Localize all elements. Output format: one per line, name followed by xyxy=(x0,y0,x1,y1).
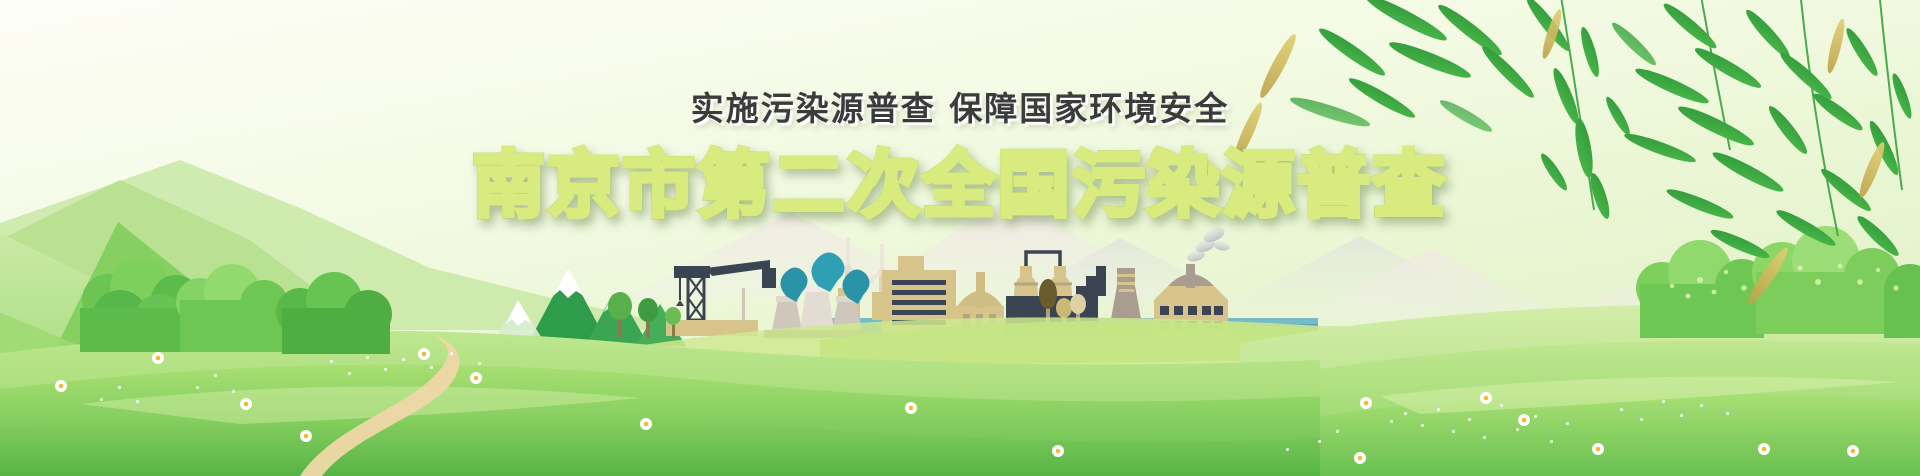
snow-peaks-layer xyxy=(0,0,1920,476)
grass-speck xyxy=(330,360,333,363)
smokestack xyxy=(1108,268,1144,336)
grass-speck xyxy=(100,398,103,401)
cooling-tower-group xyxy=(764,286,868,338)
grass-speck xyxy=(1404,412,1407,415)
daisy-flower-icon xyxy=(418,348,430,360)
tree-group-right xyxy=(1039,279,1086,336)
daisy-flower-icon xyxy=(240,398,252,410)
grass-speck xyxy=(1566,422,1569,425)
haze-mountains xyxy=(620,196,1860,330)
grass-speck xyxy=(1500,404,1503,407)
grass-speck xyxy=(1286,448,1289,451)
grass-speck xyxy=(1468,418,1471,421)
grass-speck xyxy=(1534,415,1537,418)
grass-speck xyxy=(1483,436,1486,439)
grass-speck xyxy=(478,362,481,365)
civic-building xyxy=(1154,264,1228,336)
grass-speck xyxy=(196,386,199,389)
wind-turbine xyxy=(822,238,874,320)
grass-speck xyxy=(1336,430,1339,433)
grass-speck xyxy=(1437,408,1440,411)
office-building xyxy=(882,256,956,336)
grass-speck xyxy=(1452,430,1455,433)
grass-speck xyxy=(366,356,369,359)
headline-block: 实施污染源普查 保障国家环境安全 南京市第二次全国污染源普查 xyxy=(0,0,1920,476)
wind-turbine xyxy=(858,244,906,320)
campaign-banner: 实施污染源普查 保障国家环境安全 南京市第二次全国污染源普查 xyxy=(0,0,1920,476)
chimney-smoke xyxy=(1186,225,1231,263)
snow-mountain-group xyxy=(490,268,686,348)
grass-speck xyxy=(136,400,139,403)
daisy-flower-icon xyxy=(1480,392,1492,404)
daisy-flower-icon xyxy=(55,380,67,392)
willow-branches-layer xyxy=(0,0,1920,476)
factory-complex xyxy=(1006,252,1106,336)
grass-speck xyxy=(402,358,405,361)
river xyxy=(832,318,1318,336)
daisy-flower-icon xyxy=(1518,414,1530,426)
daisy-flower-icon xyxy=(1847,445,1859,457)
thin-tower xyxy=(742,288,745,322)
crane-ground-platform xyxy=(666,320,758,336)
grass-speck xyxy=(232,390,235,393)
grass-speck xyxy=(384,368,387,371)
grass-speck xyxy=(1726,412,1729,415)
daisy-flower-icon xyxy=(1360,397,1372,409)
distant-haze-layer xyxy=(0,0,1920,476)
bush-cluster-left xyxy=(80,258,392,354)
grass-speck xyxy=(1662,400,1665,403)
bush-cluster-right xyxy=(1636,226,1920,338)
grass-speck xyxy=(1318,440,1321,443)
grass-speck xyxy=(118,386,121,389)
emission-plume-group xyxy=(780,252,869,304)
grass-speck xyxy=(430,366,433,369)
daisy-flower-icon xyxy=(300,430,312,442)
daisy-flower-icon xyxy=(640,418,652,430)
daisy-flower-icon xyxy=(1052,445,1064,457)
daisy-flower-icon xyxy=(152,352,164,364)
willow-branch-group xyxy=(1230,0,1915,308)
foreground-hills-layer xyxy=(0,0,1920,476)
daisy-flower-icon xyxy=(905,402,917,414)
banner-title-wrap: 南京市第二次全国污染源普查 xyxy=(0,126,1920,231)
grass-speck xyxy=(1640,418,1643,421)
daisy-flower-icon xyxy=(1592,443,1604,455)
grass-speck xyxy=(1700,404,1703,407)
daisy-flower-icon xyxy=(1758,443,1770,455)
grass-speck xyxy=(1390,420,1393,423)
grass-speck xyxy=(1680,414,1683,417)
wind-turbine-group xyxy=(822,238,906,320)
grass-speck xyxy=(348,372,351,375)
industry-scene-layer xyxy=(0,0,1920,476)
grass-speck xyxy=(450,352,453,355)
daisy-flower-icon xyxy=(470,372,482,384)
banner-subtitle: 实施污染源普查 保障国家环境安全 xyxy=(0,82,1920,130)
daisy-flower-icon xyxy=(1354,452,1366,464)
grass-speck xyxy=(214,374,217,377)
grass-speck xyxy=(1550,440,1553,443)
river-layer xyxy=(0,0,1920,476)
bank-tree-group xyxy=(608,292,681,338)
construction-crane xyxy=(674,260,776,320)
decor-layer xyxy=(0,0,1920,476)
domed-building xyxy=(956,272,1004,336)
page-title: 南京市第二次全国污染源普查 xyxy=(472,126,1447,231)
grass-speck xyxy=(1620,408,1623,411)
left-green-mountain xyxy=(0,218,330,430)
grass-speck xyxy=(1516,428,1519,431)
far-hills-left xyxy=(0,160,700,340)
grass-speck xyxy=(1421,424,1424,427)
